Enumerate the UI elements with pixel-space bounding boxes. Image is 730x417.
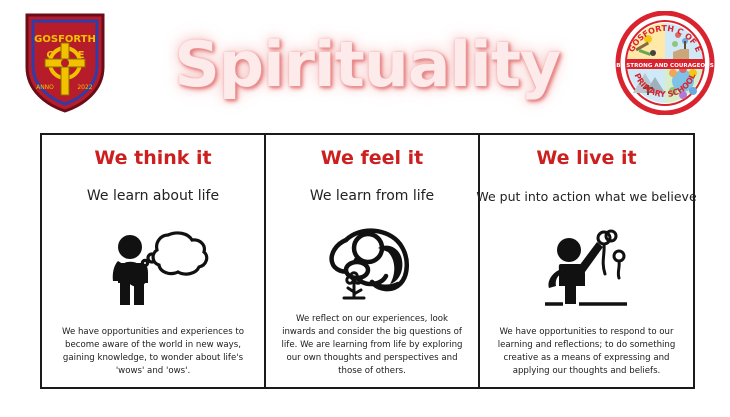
page-title: Spirituality (170, 34, 560, 96)
spirituality-panels-frame: We think it We learn about life (40, 133, 695, 389)
header-banner: GOSFORTH C E ANNO 2022 Spirituality (0, 0, 730, 130)
panel-we-feel-it: We feel it We learn from life (266, 135, 480, 387)
left-logo-slot: GOSFORTH C E ANNO 2022 (0, 11, 130, 120)
panel-body-text: We have opportunities and experiences to… (49, 326, 257, 382)
kneeling-person-flower-icon (316, 218, 428, 302)
panel-body-text: We have opportunities to respond to our … (487, 326, 686, 382)
panel-heading: We live it (536, 147, 636, 169)
panel-subheading: We learn about life (87, 188, 219, 205)
title-slot: Spirituality (130, 34, 600, 96)
shield-date-left: ANNO (36, 84, 54, 91)
roundel-motto: BE STRONG AND COURAGEOUS (616, 63, 714, 69)
shield-date-right: 2022 (77, 84, 92, 91)
panel-subheading: We put into action what we believe (476, 188, 696, 205)
panel-icon-slot (487, 207, 686, 326)
gosforth-shield-crest-icon: GOSFORTH C E ANNO 2022 (23, 11, 107, 120)
right-logo-slot: BE STRONG AND COURAGEOUS GOSFORTH C OF E… (600, 11, 730, 120)
panel-heading: We think it (94, 147, 211, 169)
thinking-person-icon (92, 227, 214, 307)
panel-we-think-it: We think it We learn about life (42, 135, 266, 387)
panel-body-text: We reflect on our experiences, look inwa… (273, 313, 471, 382)
panel-icon-slot (273, 207, 471, 313)
gosforth-primary-school-roundel-icon: BE STRONG AND COURAGEOUS GOSFORTH C OF E… (615, 11, 715, 120)
panel-icon-slot (49, 207, 257, 326)
panel-subheading: We learn from life (310, 188, 434, 205)
person-releasing-balloons-icon (531, 226, 643, 308)
panel-we-live-it: We live it We put into action what we be… (480, 135, 693, 387)
panel-heading: We feel it (321, 147, 424, 169)
